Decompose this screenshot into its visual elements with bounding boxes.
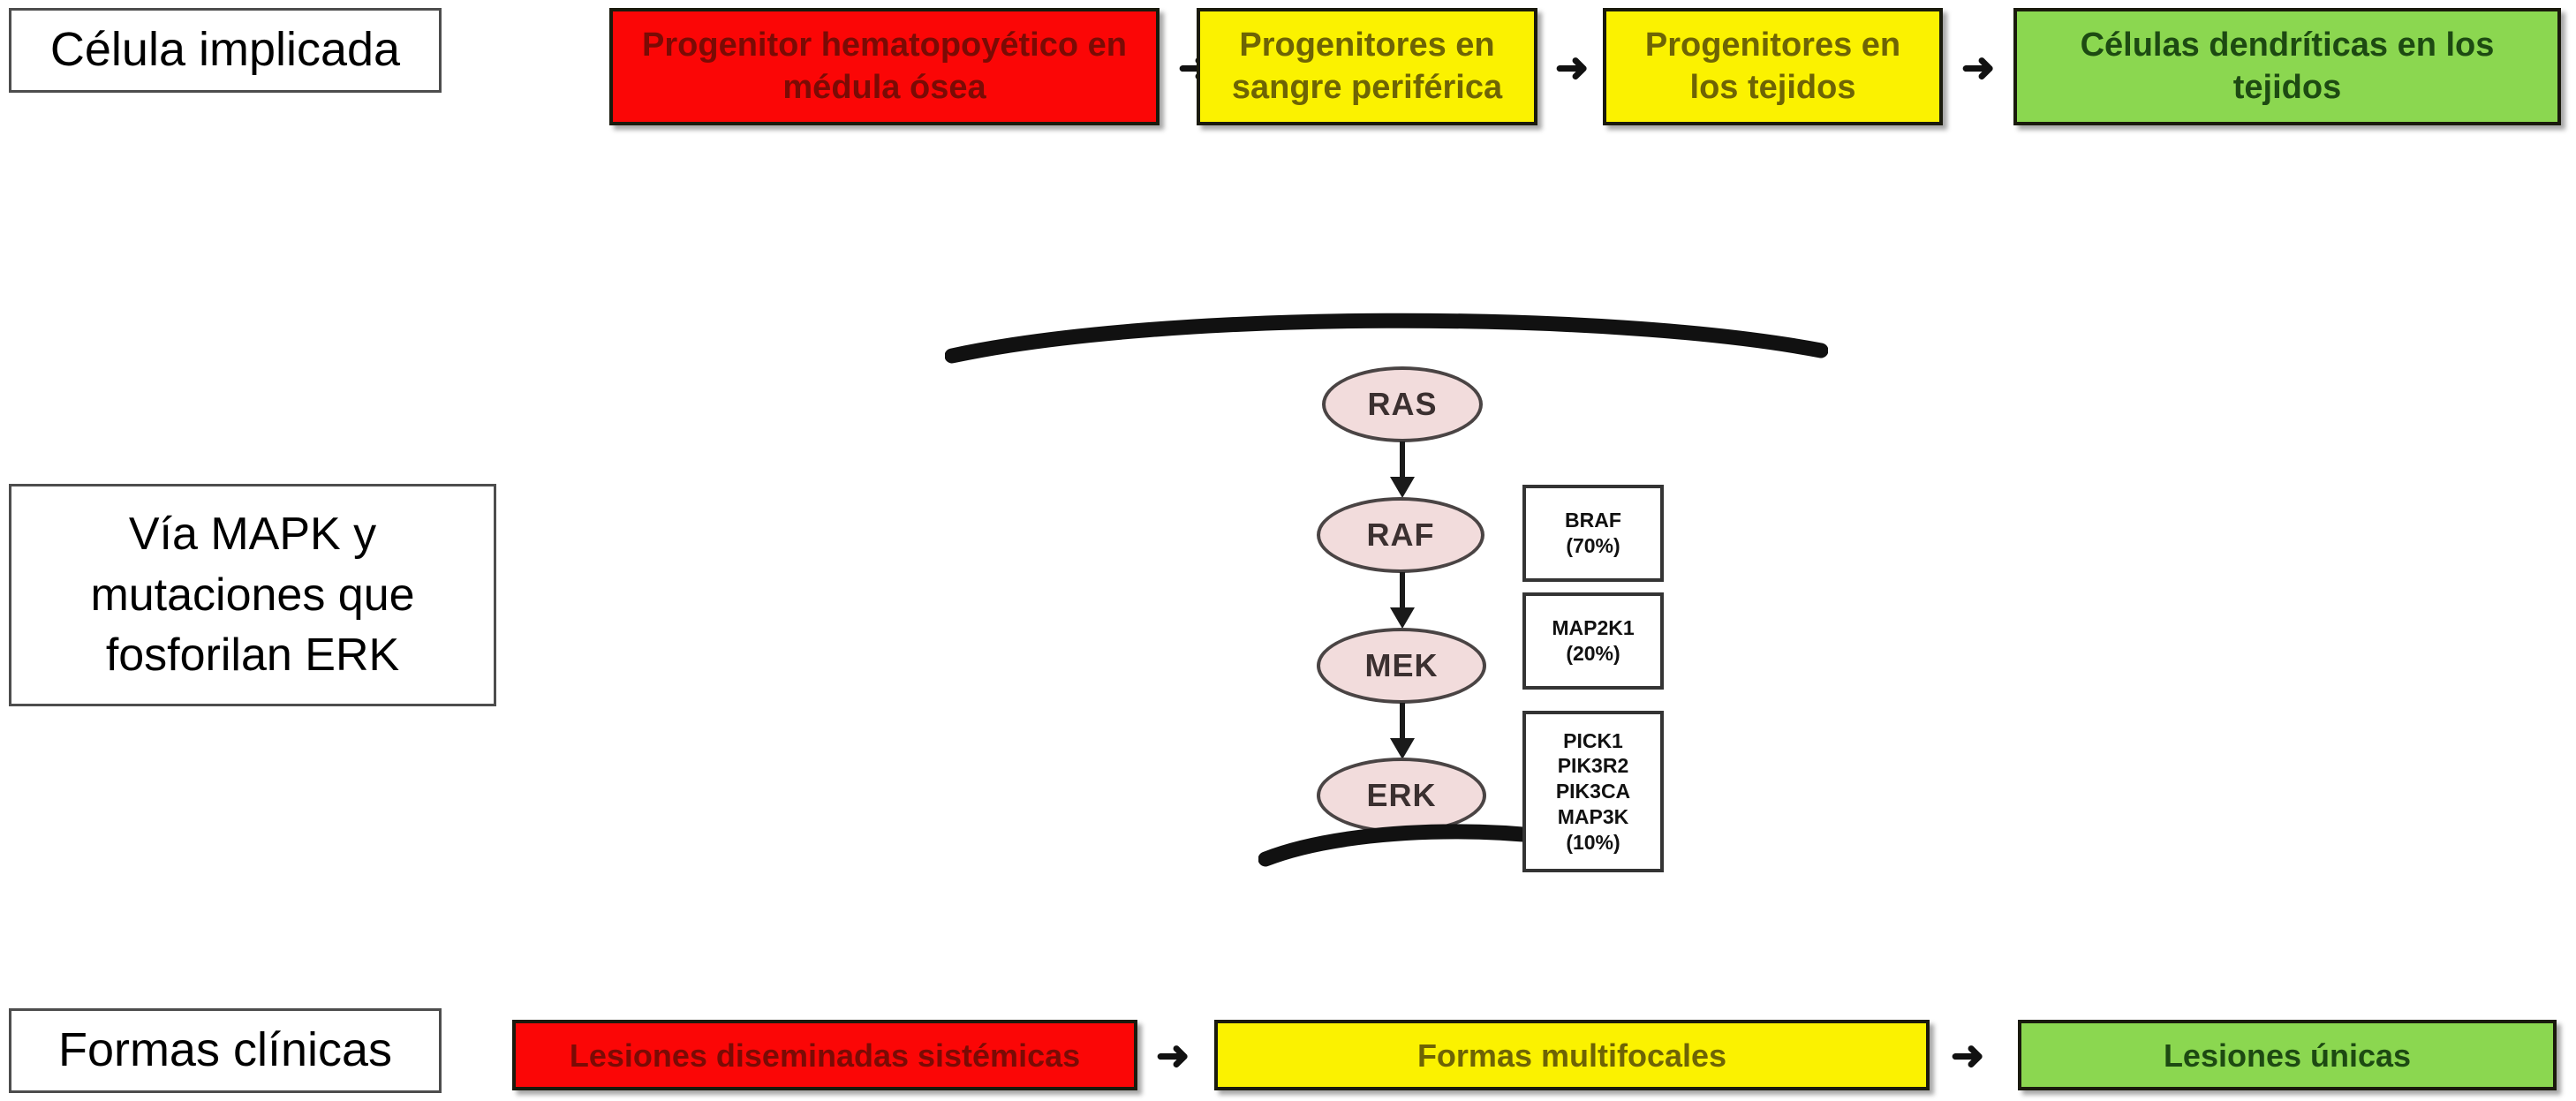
cell-flow-arrow-2: ➜	[1547, 41, 1597, 93]
mutation-other-genes: PICK1 PIK3R2 PIK3CA MAP3K	[1556, 729, 1630, 828]
row-label-via-mapk: Vía MAPK y mutaciones que fosforilan ERK	[9, 484, 496, 706]
cell-membrane-top-icon	[945, 305, 1828, 366]
pathway-node-ras: RAS	[1322, 366, 1483, 442]
mutation-box-other: PICK1 PIK3R2 PIK3CA MAP3K (10%)	[1522, 711, 1664, 872]
clinical-flow-box-2: Formas multifocales	[1214, 1020, 1930, 1090]
clinical-flow-box-1: Lesiones diseminadas sistémicas	[512, 1020, 1137, 1090]
mutation-braf-frequency: (70%)	[1566, 534, 1620, 557]
pathway-node-raf: RAF	[1317, 497, 1484, 573]
cell-flow-box-4: Células dendríticas en los tejidos	[2013, 8, 2561, 125]
pathway-arrow-ras-raf	[1383, 441, 1422, 500]
pathway-node-mek: MEK	[1317, 628, 1486, 704]
clinical-flow-box-3: Lesiones únicas	[2018, 1020, 2557, 1090]
mutation-braf-genes: BRAF	[1565, 509, 1621, 532]
mutation-map2k1-genes: MAP2K1	[1552, 616, 1634, 639]
mutation-box-map2k1: MAP2K1 (20%)	[1522, 592, 1664, 690]
diagram-canvas: Célula implicada Progenitor hematopoyéti…	[0, 0, 2576, 1101]
pathway-arrow-raf-mek	[1383, 572, 1422, 630]
mutation-other-frequency: (10%)	[1556, 830, 1630, 856]
clinical-flow-arrow-2: ➜	[1943, 1029, 1992, 1081]
mutation-box-braf: BRAF (70%)	[1522, 485, 1664, 582]
cell-flow-arrow-3: ➜	[1953, 41, 2003, 93]
row-label-formas-clinicas: Formas clínicas	[9, 1008, 442, 1093]
mutation-map2k1-text: MAP2K1 (20%)	[1552, 615, 1634, 667]
cell-flow-box-2: Progenitores en sangre periférica	[1197, 8, 1537, 125]
cell-flow-box-3: Progenitores en los tejidos	[1603, 8, 1943, 125]
mutation-map2k1-frequency: (20%)	[1566, 642, 1620, 665]
cell-flow-box-1: Progenitor hematopoyético en médula ósea	[609, 8, 1160, 125]
pathway-arrow-mek-erk	[1383, 703, 1422, 761]
row-label-celula-implicada: Célula implicada	[9, 8, 442, 93]
clinical-flow-arrow-1: ➜	[1148, 1029, 1197, 1081]
mutation-braf-text: BRAF (70%)	[1565, 508, 1621, 559]
mutation-other-text: PICK1 PIK3R2 PIK3CA MAP3K (10%)	[1556, 728, 1630, 856]
